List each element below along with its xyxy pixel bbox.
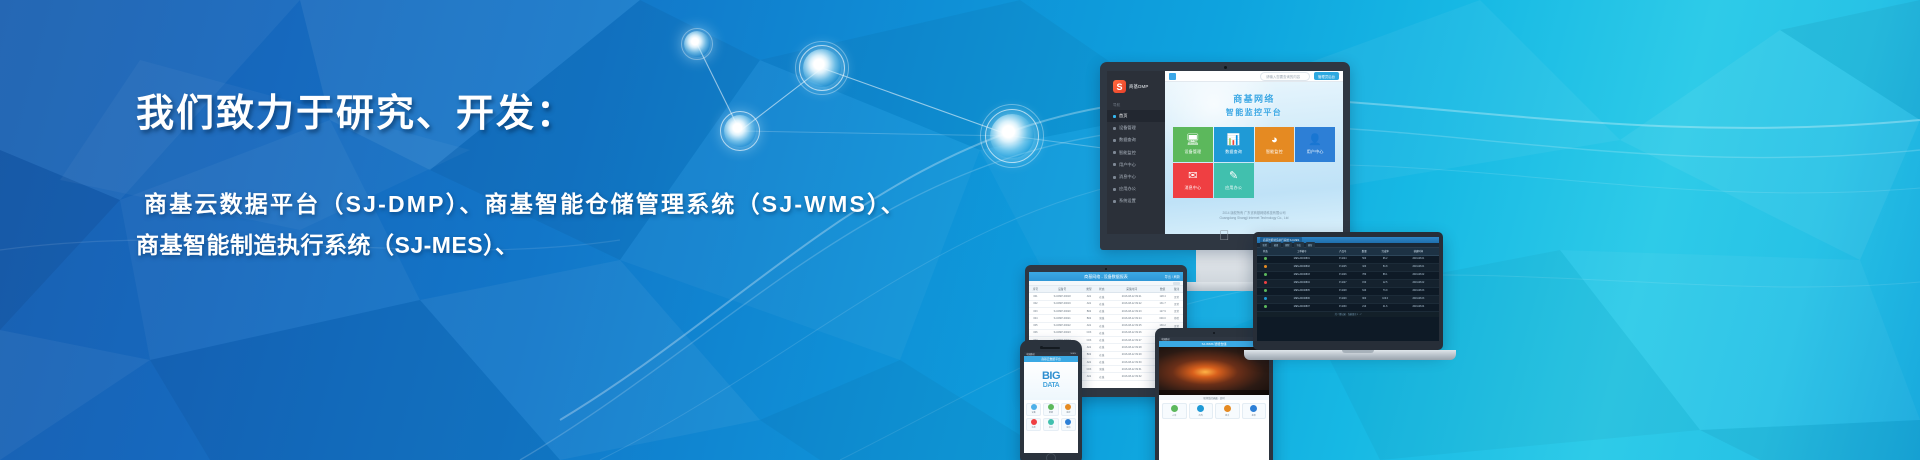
cell: [1257, 271, 1274, 279]
cell: 780: [1356, 271, 1373, 279]
column-header: 数值: [1155, 286, 1170, 293]
sidebar-item-monitor[interactable]: 智能监控: [1107, 147, 1165, 159]
cell: 41.6: [1373, 303, 1398, 311]
cell: B02: [1083, 307, 1096, 314]
column-header: 采集时间: [1108, 286, 1155, 293]
cell: 640: [1356, 287, 1373, 295]
edit-icon: [1113, 188, 1116, 191]
cell: 12.5: [1373, 279, 1398, 287]
cell: MES-20160805: [1274, 287, 1330, 295]
cell: P-1026: [1330, 271, 1356, 279]
cell: 在线: [1095, 344, 1108, 351]
menu-icon[interactable]: [1169, 73, 1176, 80]
app-label: 设备: [1032, 411, 1036, 414]
chart-icon: [1048, 404, 1054, 410]
cell: 在线: [1095, 373, 1108, 380]
app-sidebar: S 商基DMP 导航 首页 设备管理: [1107, 71, 1165, 234]
edit-icon: [1048, 419, 1054, 425]
cell: 004: [1029, 315, 1042, 322]
gear-icon: [1113, 200, 1116, 203]
sidebar-item-label: 系统设置: [1119, 198, 1136, 204]
tile-data-query[interactable]: 📊 数据查询: [1214, 127, 1254, 162]
column-header: 创建时间: [1398, 248, 1439, 255]
mes-table: 状态 工单编号 产品号 数量 完成率 创建时间 MES-20160801P-10…: [1257, 248, 1439, 312]
cell: [1257, 263, 1274, 271]
cell: 2016-08-02: [1398, 271, 1439, 279]
cell: 006: [1029, 329, 1042, 336]
refresh-button[interactable]: 刷新: [1306, 242, 1315, 247]
cell: B02: [1083, 315, 1096, 322]
table-row[interactable]: MES-20160804P-102715012.52016-08-02: [1257, 279, 1439, 287]
user-menu-button[interactable]: 管理员后台: [1314, 72, 1339, 80]
app-label: 办公: [1049, 426, 1053, 429]
app-label: 数据: [1049, 411, 1053, 414]
cell: P-1028: [1330, 287, 1356, 295]
cell: 2016-08-04: [1398, 303, 1439, 311]
cell: MES-20160803: [1274, 271, 1330, 279]
cell: MES-20160801: [1274, 255, 1330, 263]
battery-label: 100%: [1070, 353, 1076, 355]
app-label: 消息: [1032, 426, 1036, 429]
app-main: 请输入您要查询的内容 ⌕ 管理员后台 商基网络 智能监控平台 🖥 设备管理: [1165, 71, 1343, 234]
sidebar-item-label: 首页: [1119, 113, 1127, 119]
cell: 000.0: [1155, 315, 1170, 322]
cell: 100.0: [1373, 295, 1398, 303]
bigdata-wordmark: BIG DATA: [1042, 371, 1060, 391]
home-button[interactable]: [1046, 453, 1056, 460]
page-title: 我们致力于研究、开发：: [136, 92, 956, 136]
cell: P-1024: [1330, 255, 1356, 263]
cell: 2016-08-12 09:28: [1108, 344, 1155, 351]
status-badge: [1264, 289, 1267, 292]
monitor-stand: [1196, 250, 1254, 284]
column-header: 状态: [1257, 248, 1274, 255]
inbound-icon: [1171, 405, 1178, 412]
cell: 54.8: [1373, 263, 1398, 271]
phone-app-office[interactable]: 办公: [1043, 418, 1058, 431]
laptop-lid: 商基智能制造执行系统 SJ-MES 新增 编辑 删除 导出 刷新 状态: [1253, 232, 1443, 350]
hero-banner: 我们致力于研究、开发： 商基云数据平台（SJ-DMP）、商基智能仓储管理系统（S…: [0, 0, 1920, 460]
cell: MES-20160806: [1274, 295, 1330, 303]
phone-screen: 中国移动 100% 商基云数据平台 BIG DATA 设备 数据 监控: [1024, 352, 1078, 453]
tile-label: 设备管理: [1184, 149, 1201, 155]
cell: B02: [1083, 351, 1096, 358]
laptop-notch: [1342, 350, 1374, 353]
desktop-monitor: S 商基DMP 导航 首页 设备管理: [1100, 62, 1350, 250]
cell: C03: [1083, 337, 1096, 344]
app-label: 我的: [1066, 426, 1070, 429]
cell: SJ-DMP-00022: [1042, 322, 1083, 329]
cell: 210: [1356, 303, 1373, 311]
export-button[interactable]: 导出: [1294, 242, 1303, 247]
phone-app-data[interactable]: 数据: [1043, 403, 1058, 416]
cell: 在线: [1095, 329, 1108, 336]
cell: 73.9: [1373, 287, 1398, 295]
cell: 离线: [1095, 366, 1108, 373]
table-row[interactable]: MES-20160806P-1029900100.02016-08-03: [1257, 295, 1439, 303]
tablet-app-stocktake[interactable]: 盘点: [1215, 403, 1240, 419]
cell: 2016-08-12 09:23: [1108, 307, 1155, 314]
sidebar-item-data[interactable]: 数据查询: [1107, 134, 1165, 146]
cell: 离线: [1095, 315, 1108, 322]
pie-chart-icon: ◕: [1271, 135, 1278, 146]
tile-label: 智能监控: [1266, 149, 1283, 155]
status-badge: [1264, 273, 1267, 276]
cell: A01: [1083, 344, 1096, 351]
bigdata-main: BIG: [1042, 370, 1060, 382]
table-header-row: 状态 工单编号 产品号 数量 完成率 创建时间: [1257, 248, 1439, 255]
cell: 2016-08-12 09:32: [1108, 373, 1155, 380]
search-icon[interactable]: ⌕: [1338, 72, 1340, 76]
sidebar-item-label: 设备管理: [1119, 125, 1136, 131]
dashboard-tile-grid: 🖥 设备管理 📊 数据查询 ◕ 智能监控: [1173, 127, 1335, 198]
tile-message-center[interactable]: ✉ 消息中心: [1173, 163, 1213, 198]
mail-icon: [1031, 419, 1037, 425]
cell: [1257, 295, 1274, 303]
tile-smart-monitor[interactable]: ◕ 智能监控: [1255, 127, 1295, 162]
cell: 正常: [1170, 293, 1183, 300]
cell: [1257, 255, 1274, 263]
cell: 96.2: [1373, 255, 1398, 263]
tablet-app-report[interactable]: 报表: [1242, 403, 1267, 419]
cell: 900: [1356, 295, 1373, 303]
cell: 127.9: [1155, 307, 1170, 314]
table-row[interactable]: 004SJ-DMP-00021B02离线2016-08-12 09:24000.…: [1029, 315, 1183, 322]
cell: P-1030: [1330, 303, 1356, 311]
sidebar-item-label: 消息中心: [1119, 174, 1136, 180]
tablet-app-grid: 入库 出库 盘点 报表: [1159, 400, 1269, 422]
cell: 2016-08-12 09:25: [1108, 322, 1155, 329]
mes-statusbar: 共 7 条记录 · 当前显示 1 - 7: [1257, 312, 1439, 317]
cell: SJ-DMP-00023: [1042, 329, 1083, 336]
cell: 在线: [1095, 337, 1108, 344]
laptop: 商基智能制造执行系统 SJ-MES 新增 编辑 删除 导出 刷新 状态: [1253, 232, 1463, 382]
sidebar-item-settings[interactable]: 系统设置: [1107, 195, 1165, 207]
monitor-bezel: S 商基DMP 导航 首页 设备管理: [1100, 62, 1350, 250]
cell: SJ-DMP-00020: [1042, 307, 1083, 314]
cell: 005: [1029, 322, 1042, 329]
cell: MES-20160804: [1274, 279, 1330, 287]
sidebar-section-label: 导航: [1107, 101, 1165, 110]
column-header: 状态: [1095, 286, 1108, 293]
tile-label: 应用办公: [1225, 185, 1242, 191]
cell: 在线: [1095, 351, 1108, 358]
cell: C03: [1083, 366, 1096, 373]
query-button[interactable]: [1173, 282, 1180, 285]
tablet-app-inbound[interactable]: 入库: [1162, 403, 1187, 419]
cell: SJ-DMP-00018: [1042, 293, 1083, 300]
cell: P-1027: [1330, 279, 1356, 287]
cell: 在线: [1095, 307, 1108, 314]
product-list: 商基云数据平台（SJ-DMP）、商基智能仓储管理系统（SJ-WMS）、 商基智能…: [136, 184, 956, 266]
cell: 2016-08-02: [1398, 279, 1439, 287]
delete-button[interactable]: 删除: [1283, 242, 1292, 247]
sidebar-item-label: 应用办公: [1119, 186, 1136, 192]
cell: 128.4: [1155, 293, 1170, 300]
edit-button[interactable]: 编辑: [1271, 242, 1280, 247]
app-label: 盘点: [1225, 414, 1229, 417]
cell: SJ-DMP-00021: [1042, 315, 1083, 322]
laptop-screen: 商基智能制造执行系统 SJ-MES 新增 编辑 删除 导出 刷新 状态: [1257, 237, 1439, 341]
column-header: 设备号: [1042, 286, 1083, 293]
cell: A01: [1083, 373, 1096, 380]
carrier-label: 中国移动: [1161, 337, 1170, 341]
cell: MES-20160802: [1274, 263, 1330, 271]
cell: 在线: [1095, 300, 1108, 307]
smartphone: 中国移动 100% 商基云数据平台 BIG DATA 设备 数据 监控: [1020, 340, 1082, 460]
column-header: 产品号: [1330, 248, 1356, 255]
status-badge: [1264, 305, 1267, 308]
cell: 320: [1356, 263, 1373, 271]
user-icon: 👤: [1308, 135, 1322, 146]
table-row[interactable]: MES-20160802P-102532054.82016-08-01: [1257, 263, 1439, 271]
dashboard-footer: 2014 版权所有 广东省商基网络科技有限公司 Guangdong Shangj…: [1173, 211, 1335, 221]
cell: 待检: [1170, 315, 1183, 322]
user-icon: [1065, 419, 1071, 425]
column-header: 数量: [1356, 248, 1373, 255]
cell: 正常: [1170, 307, 1183, 314]
cell: SJ-DMP-00019: [1042, 300, 1083, 307]
product-line-1: 商基云数据平台（SJ-DMP）、商基智能仓储管理系统（SJ-WMS）、: [136, 184, 956, 225]
cell: 2016-08-12 09:22: [1108, 300, 1155, 307]
monitor-icon: 🖥: [1186, 135, 1200, 146]
app-label: 入库: [1172, 414, 1176, 417]
cell: 500: [1356, 255, 1373, 263]
outbound-icon: [1197, 405, 1204, 412]
sidebar-item-label: 用户中心: [1119, 162, 1136, 168]
clipboard-icon: [1224, 405, 1231, 412]
app-logo[interactable]: S 商基DMP: [1107, 77, 1165, 101]
table-row[interactable]: 003SJ-DMP-00020B02在线2016-08-12 09:23127.…: [1029, 307, 1183, 314]
add-button[interactable]: 新增: [1260, 242, 1269, 247]
banner-text-block: 我们致力于研究、开发： 商基云数据平台（SJ-DMP）、商基智能仓储管理系统（S…: [136, 92, 956, 266]
app-topbar: 请输入您要查询的内容 ⌕ 管理员后台: [1165, 71, 1343, 82]
device-icon: [1113, 127, 1116, 130]
mail-icon: [1113, 176, 1116, 179]
sidebar-item-label: 数据查询: [1119, 137, 1136, 143]
footer-line-2: Guangdong Shangji Internet Technology Co…: [1173, 216, 1335, 221]
app-label: 报表: [1252, 414, 1256, 417]
cell: 2016-08-01: [1398, 255, 1439, 263]
search-input[interactable]: 请输入您要查询的内容: [1260, 72, 1310, 81]
table-row[interactable]: MES-20160807P-103021041.62016-08-04: [1257, 303, 1439, 311]
home-icon: [1113, 115, 1116, 118]
phone-hero-banner: BIG DATA: [1024, 362, 1078, 400]
status-badge: [1264, 257, 1267, 260]
device-cluster: S 商基DMP 导航 首页 设备管理: [1010, 40, 1910, 460]
cell: [1257, 287, 1274, 295]
cell: 131.7: [1155, 300, 1170, 307]
monitor-icon: [1113, 151, 1116, 154]
table-row[interactable]: MES-20160803P-102678088.12016-08-02: [1257, 271, 1439, 279]
cell: MES-20160807: [1274, 303, 1330, 311]
cell: A01: [1083, 293, 1096, 300]
column-header: 类型: [1083, 286, 1096, 293]
app-label: 出库: [1199, 414, 1203, 417]
table-row[interactable]: 002SJ-DMP-00019A01在线2016-08-12 09:22131.…: [1029, 300, 1183, 307]
cell: 在线: [1095, 358, 1108, 365]
column-header: 备注: [1170, 286, 1183, 293]
cell: 2016-08-12 09:26: [1108, 329, 1155, 336]
cell: 在线: [1095, 293, 1108, 300]
cell: A01: [1083, 300, 1096, 307]
webcam-icon: [1224, 66, 1227, 69]
cell: 002: [1029, 300, 1042, 307]
tile-label: 数据查询: [1225, 149, 1242, 155]
cell: [1257, 279, 1274, 287]
brand-name: 商基DMP: [1129, 84, 1149, 90]
sidebar-item-user[interactable]: 用户中心: [1107, 159, 1165, 171]
phone-bezel: 中国移动 100% 商基云数据平台 BIG DATA 设备 数据 监控: [1020, 340, 1082, 460]
sidebar-item-home[interactable]: 首页: [1107, 110, 1165, 122]
column-header: 序号: [1029, 286, 1042, 293]
table-body: MES-20160801P-102450096.22016-08-01 MES-…: [1257, 255, 1439, 311]
phone-app-grid: 设备 数据 监控 消息 办公 我的: [1024, 400, 1078, 434]
user-icon: [1113, 163, 1116, 166]
cell: 150: [1356, 279, 1373, 287]
cell: [1257, 303, 1274, 311]
cell: 001: [1029, 293, 1042, 300]
phone-app-message[interactable]: 消息: [1026, 418, 1041, 431]
cell: 2016-08-03: [1398, 295, 1439, 303]
brand-mark-icon: S: [1113, 80, 1126, 93]
product-line-2: 商基智能制造执行系统（SJ-MES）、: [136, 225, 956, 266]
table-row[interactable]: MES-20160805P-102864073.92016-08-03: [1257, 287, 1439, 295]
status-badge: [1264, 281, 1267, 284]
sidebar-item-office[interactable]: 应用办公: [1107, 183, 1165, 195]
column-header: 工单编号: [1274, 248, 1330, 255]
app-dashboard: 商基网络 智能监控平台 🖥 设备管理 📊 数据查询: [1165, 82, 1343, 234]
table-row[interactable]: MES-20160801P-102450096.22016-08-01: [1257, 255, 1439, 263]
speaker-icon: [1042, 347, 1060, 349]
cell: 2016-08-12 09:31: [1108, 366, 1155, 373]
dashboard-title: 商基网络: [1173, 92, 1335, 105]
cell: P-1025: [1330, 263, 1356, 271]
tablet-app-outbound[interactable]: 出库: [1189, 403, 1214, 419]
sidebar-item-devices[interactable]: 设备管理: [1107, 122, 1165, 134]
bigdata-sub: DATA: [1042, 381, 1060, 391]
edit-icon: ✎: [1229, 171, 1238, 182]
report-actions[interactable]: 导出 / 刷新: [1165, 274, 1180, 279]
tile-label: 用户中心: [1307, 149, 1324, 155]
column-header: 完成率: [1373, 248, 1398, 255]
sidebar-item-message[interactable]: 消息中心: [1107, 171, 1165, 183]
tile-device-management[interactable]: 🖥 设备管理: [1173, 127, 1213, 162]
report-header: 商基网络 - 设备数据报表 导出 / 刷新: [1029, 272, 1183, 281]
sidebar-item-label: 智能监控: [1119, 150, 1136, 156]
cell: 88.1: [1373, 271, 1398, 279]
cell: 在线: [1095, 322, 1108, 329]
cell: C03: [1083, 329, 1096, 336]
cell: 2016-08-12 09:21: [1108, 293, 1155, 300]
dashboard-subtitle: 智能监控平台: [1173, 107, 1335, 118]
camera-icon: [1213, 332, 1216, 335]
report-title: 商基网络 - 设备数据报表: [1084, 274, 1128, 280]
apple-logo-icon: : [1219, 228, 1231, 242]
device-icon: [1031, 404, 1037, 410]
table-header-row: 序号 设备号 类型 状态 采集时间 数值 备注: [1029, 286, 1183, 293]
cell: 2016-08-12 09:30: [1108, 358, 1155, 365]
mail-icon: ✉: [1188, 171, 1197, 182]
tile-user-center[interactable]: 👤 用户中心: [1295, 127, 1335, 162]
cell: 2016-08-12 09:27: [1108, 337, 1155, 344]
tile-label: 消息中心: [1184, 185, 1201, 191]
phone-app-monitor[interactable]: 监控: [1061, 403, 1076, 416]
monitor-icon: [1065, 404, 1071, 410]
table-row[interactable]: 001SJ-DMP-00018A01在线2016-08-12 09:21128.…: [1029, 293, 1183, 300]
phone-app-device[interactable]: 设备: [1026, 403, 1041, 416]
carrier-label: 中国移动: [1026, 352, 1035, 356]
phone-app-profile[interactable]: 我的: [1061, 418, 1076, 431]
cell: 正常: [1170, 300, 1183, 307]
cell: A01: [1083, 322, 1096, 329]
webcam-icon: [1105, 268, 1108, 271]
cell: 2016-08-03: [1398, 287, 1439, 295]
monitor-screen: S 商基DMP 导航 首页 设备管理: [1107, 71, 1343, 234]
cell: 2016-08-12 09:24: [1108, 315, 1155, 322]
status-badge: [1264, 297, 1267, 300]
chart-icon: 📊: [1227, 135, 1241, 146]
app-label: 监控: [1066, 411, 1070, 414]
camera-icon: [1040, 346, 1043, 349]
chart-icon: [1113, 139, 1116, 142]
cell: P-1029: [1330, 295, 1356, 303]
cell: 2016-08-12 09:29: [1108, 351, 1155, 358]
tile-office[interactable]: ✎ 应用办公: [1214, 163, 1254, 198]
cell: 2016-08-01: [1398, 263, 1439, 271]
chart-icon: [1250, 405, 1257, 412]
status-badge: [1264, 265, 1267, 268]
cell: 003: [1029, 307, 1042, 314]
cell: A01: [1083, 358, 1096, 365]
